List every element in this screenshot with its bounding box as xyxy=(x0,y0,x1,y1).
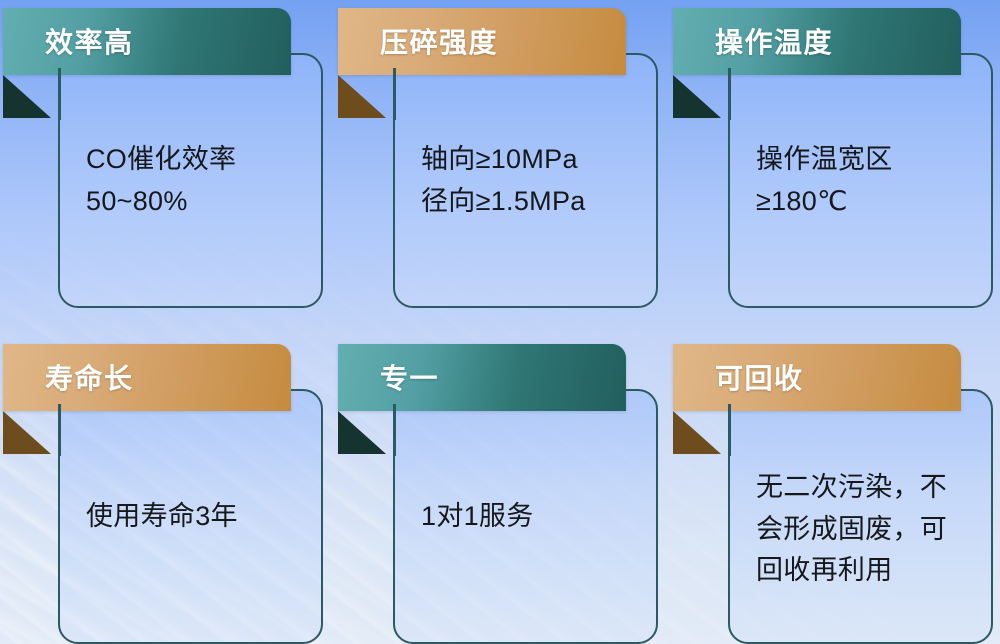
card-header-label: 效率高 xyxy=(45,21,134,61)
card-header-label: 压碎强度 xyxy=(380,21,498,61)
card-header-label: 可回收 xyxy=(715,357,804,397)
card-body: 操作温宽区 ≥180℃ xyxy=(728,53,993,308)
card-connector-stub xyxy=(728,404,731,456)
folded-corner-icon xyxy=(338,411,386,454)
card-body-text: 无二次污染，不 会形成固废，可 回收再利用 xyxy=(730,391,991,642)
card-connector-stub xyxy=(393,68,396,120)
card-connector-stub xyxy=(58,404,61,456)
card-connector-stub xyxy=(58,68,61,120)
card-connector-stub xyxy=(728,68,731,120)
card-header-label: 专一 xyxy=(380,357,439,397)
card-body-text: 使用寿命3年 xyxy=(60,391,321,642)
folded-corner-icon xyxy=(3,75,51,118)
folded-corner-icon xyxy=(3,411,51,454)
card-header-ribbon: 专一 xyxy=(338,344,626,411)
card-body: CO催化效率 50~80% xyxy=(58,53,323,308)
folded-corner-icon xyxy=(673,75,721,118)
card-header-ribbon: 压碎强度 xyxy=(338,8,626,75)
folded-corner-icon xyxy=(673,411,721,454)
card-header-ribbon: 寿命长 xyxy=(3,344,291,411)
card-body: 无二次污染，不 会形成固废，可 回收再利用 xyxy=(728,389,993,644)
card-header-ribbon: 效率高 xyxy=(3,8,291,75)
card-body-text: 1对1服务 xyxy=(395,391,656,642)
card-header-ribbon: 操作温度 xyxy=(673,8,961,75)
card-header-ribbon: 可回收 xyxy=(673,344,961,411)
card-connector-stub xyxy=(393,404,396,456)
card-header-label: 寿命长 xyxy=(45,357,134,397)
infographic-canvas: CO催化效率 50~80% 效率高 轴向≥10MPa 径向≥1.5MPa 压碎强… xyxy=(0,0,1000,644)
card-body: 使用寿命3年 xyxy=(58,389,323,644)
card-body-text: 轴向≥10MPa 径向≥1.5MPa xyxy=(395,55,656,306)
card-body: 轴向≥10MPa 径向≥1.5MPa xyxy=(393,53,658,308)
card-header-label: 操作温度 xyxy=(715,21,833,61)
card-body-text: 操作温宽区 ≥180℃ xyxy=(730,55,991,306)
card-body: 1对1服务 xyxy=(393,389,658,644)
folded-corner-icon xyxy=(338,75,386,118)
card-body-text: CO催化效率 50~80% xyxy=(60,55,321,306)
